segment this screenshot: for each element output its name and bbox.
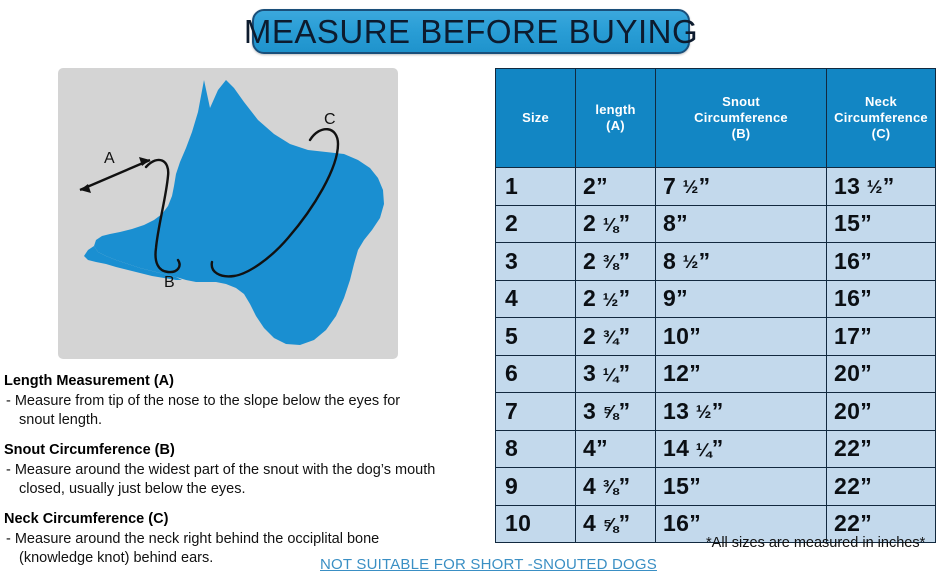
value-whole: 9 xyxy=(663,285,676,311)
cell-size: 1 xyxy=(496,168,576,206)
value-fraction: ½ xyxy=(596,289,619,310)
cell-snout-circumference: 10” xyxy=(656,318,827,356)
value-fraction: ¼ xyxy=(596,364,619,385)
unit-mark: ” xyxy=(619,248,631,274)
unit-mark: ” xyxy=(619,510,631,536)
value-whole: 2 xyxy=(583,323,596,349)
cell-snout-circumference: 9” xyxy=(656,280,827,318)
unit-mark: ” xyxy=(699,248,711,274)
value-whole: 10 xyxy=(663,323,689,349)
cell-length: 3 ⅝” xyxy=(576,393,656,431)
size-chart-table-wrapper: Size length (A) Snout Circumference (B) … xyxy=(495,68,935,543)
table-row: 42 ½”9”16” xyxy=(496,280,936,318)
header-sub2: (C) xyxy=(827,126,935,142)
unit-mark: ” xyxy=(860,285,872,311)
value-fraction: ⅛ xyxy=(596,214,619,235)
value-fraction: ¼ xyxy=(689,439,712,460)
cell-size: 3 xyxy=(496,243,576,281)
value-whole: 20 xyxy=(834,398,860,424)
table-row: 73 ⅝”13 ½”20” xyxy=(496,393,936,431)
cell-size: 5 xyxy=(496,318,576,356)
unit-mark: ” xyxy=(689,360,701,386)
unit-mark: ” xyxy=(676,210,688,236)
unit-mark: ” xyxy=(860,360,872,386)
cell-neck-circumference: 15” xyxy=(827,205,936,243)
cell-size: 7 xyxy=(496,393,576,431)
cell-snout-circumference: 7 ½” xyxy=(656,168,827,206)
value-fraction: ⅝ xyxy=(596,401,619,422)
cell-length: 2” xyxy=(576,168,656,206)
value-whole: 20 xyxy=(834,360,860,386)
column-header-length: length (A) xyxy=(576,69,656,168)
value-whole: 15 xyxy=(834,210,860,236)
table-header-row: Size length (A) Snout Circumference (B) … xyxy=(496,69,936,168)
header-sub: Circumference xyxy=(827,110,935,126)
table-row: 22 ⅛”8”15” xyxy=(496,205,936,243)
unit-mark: ” xyxy=(689,510,701,536)
cell-snout-circumference: 14 ¼” xyxy=(656,430,827,468)
column-header-snout-circumference: Snout Circumference (B) xyxy=(656,69,827,168)
size-chart-table: Size length (A) Snout Circumference (B) … xyxy=(495,68,936,543)
instruction-group-snout: Snout Circumference (B) - Measure around… xyxy=(4,441,484,499)
column-header-size: Size xyxy=(496,69,576,168)
cell-size: 9 xyxy=(496,468,576,506)
unit-mark: ” xyxy=(883,173,895,199)
unit-mark: ” xyxy=(596,173,608,199)
table-header: Size length (A) Snout Circumference (B) … xyxy=(496,69,936,168)
cell-neck-circumference: 17” xyxy=(827,318,936,356)
table-row: 63 ¼”12”20” xyxy=(496,355,936,393)
unit-mark: ” xyxy=(860,473,872,499)
unit-mark: ” xyxy=(596,435,608,461)
unit-mark: ” xyxy=(860,398,872,424)
instruction-heading-length: Length Measurement (A) xyxy=(4,372,484,390)
unit-mark: ” xyxy=(712,435,724,461)
value-whole: 16 xyxy=(834,285,860,311)
label-a: A xyxy=(104,150,115,167)
value-whole: 12 xyxy=(663,360,689,386)
cell-size: 10 xyxy=(496,505,576,543)
value-whole: 4 xyxy=(583,510,596,536)
header-sub2: (B) xyxy=(656,126,826,142)
table-row: 32 ⅜”8 ½”16” xyxy=(496,243,936,281)
column-header-neck-circumference: Neck Circumference (C) xyxy=(827,69,936,168)
unit-mark: ” xyxy=(712,398,724,424)
cell-snout-circumference: 13 ½” xyxy=(656,393,827,431)
instruction-line: closed, usually just below the eyes. xyxy=(6,480,484,499)
instruction-group-length: Length Measurement (A) - Measure from ti… xyxy=(4,372,484,430)
page-title: MEASURE BEFORE BUYING xyxy=(244,15,698,48)
instruction-body-length: - Measure from tip of the nose to the sl… xyxy=(4,392,484,430)
dog-measurement-illustration: A B C xyxy=(58,68,398,359)
instruction-line: - Measure around the widest part of the … xyxy=(6,462,435,478)
unit-mark: ” xyxy=(860,210,872,236)
label-c: C xyxy=(324,111,336,128)
value-whole: 3 xyxy=(583,360,596,386)
value-whole: 8 xyxy=(663,248,676,274)
cell-neck-circumference: 16” xyxy=(827,243,936,281)
dog-head-silhouette xyxy=(94,80,384,345)
unit-mark: ” xyxy=(619,210,631,236)
unit-mark: ” xyxy=(860,323,872,349)
cell-size: 6 xyxy=(496,355,576,393)
value-whole: 8 xyxy=(663,210,676,236)
cell-neck-circumference: 22” xyxy=(827,430,936,468)
instruction-heading-snout: Snout Circumference (B) xyxy=(4,441,484,459)
value-whole: 17 xyxy=(834,323,860,349)
measurement-line-a xyxy=(80,157,150,193)
cell-snout-circumference: 8” xyxy=(656,205,827,243)
cell-size: 8 xyxy=(496,430,576,468)
value-whole: 2 xyxy=(583,173,596,199)
value-fraction: ½ xyxy=(860,176,883,197)
table-row: 52 ¾”10”17” xyxy=(496,318,936,356)
label-b: B xyxy=(164,274,175,291)
header-main: length xyxy=(595,102,635,117)
cell-length: 4 ⅜” xyxy=(576,468,656,506)
value-whole: 4 xyxy=(583,435,596,461)
value-whole: 16 xyxy=(663,510,689,536)
table-row: 12”7 ½”13 ½” xyxy=(496,168,936,206)
header-main: Size xyxy=(522,110,549,125)
cell-neck-circumference: 20” xyxy=(827,355,936,393)
cell-length: 3 ¼” xyxy=(576,355,656,393)
cell-length: 4 ⅝” xyxy=(576,505,656,543)
value-whole: 2 xyxy=(583,285,596,311)
unit-mark: ” xyxy=(619,323,631,349)
table-footnote: *All sizes are measured in inches* xyxy=(706,535,925,551)
cell-snout-circumference: 8 ½” xyxy=(656,243,827,281)
cell-neck-circumference: 22” xyxy=(827,468,936,506)
value-fraction: ½ xyxy=(689,401,712,422)
instruction-line: - Measure from tip of the nose to the sl… xyxy=(6,393,400,409)
value-whole: 13 xyxy=(663,398,689,424)
unit-mark: ” xyxy=(860,248,872,274)
unit-mark: ” xyxy=(860,435,872,461)
value-whole: 16 xyxy=(834,248,860,274)
value-whole: 2 xyxy=(583,210,596,236)
cell-size: 2 xyxy=(496,205,576,243)
unit-mark: ” xyxy=(619,285,631,311)
value-fraction: ⅝ xyxy=(596,514,619,535)
value-whole: 22 xyxy=(834,473,860,499)
value-fraction: ½ xyxy=(676,251,699,272)
value-whole: 22 xyxy=(834,435,860,461)
cell-length: 2 ⅛” xyxy=(576,205,656,243)
measurement-instructions: Length Measurement (A) - Measure from ti… xyxy=(4,372,484,578)
cell-length: 2 ½” xyxy=(576,280,656,318)
cell-length: 2 ⅜” xyxy=(576,243,656,281)
value-fraction: ⅜ xyxy=(596,476,619,497)
value-whole: 14 xyxy=(663,435,689,461)
cell-neck-circumference: 20” xyxy=(827,393,936,431)
unit-mark: ” xyxy=(689,323,701,349)
instruction-heading-neck: Neck Circumference (C) xyxy=(4,510,484,528)
cell-length: 2 ¾” xyxy=(576,318,656,356)
instruction-body-snout: - Measure around the widest part of the … xyxy=(4,461,484,499)
instruction-line: - Measure around the neck right behind t… xyxy=(6,531,379,547)
value-whole: 7 xyxy=(663,173,676,199)
cell-neck-circumference: 16” xyxy=(827,280,936,318)
table-row: 84”14 ¼”22” xyxy=(496,430,936,468)
header-main: Snout xyxy=(656,94,826,110)
cell-snout-circumference: 15” xyxy=(656,468,827,506)
cell-neck-circumference: 13 ½” xyxy=(827,168,936,206)
not-suitable-warning: NOT SUITABLE FOR SHORT -SNOUTED DOGS xyxy=(320,556,657,573)
table-row: 94 ⅜”15”22” xyxy=(496,468,936,506)
value-whole: 3 xyxy=(583,398,596,424)
value-whole: 4 xyxy=(583,473,596,499)
value-whole: 15 xyxy=(663,473,689,499)
unit-mark: ” xyxy=(860,510,872,536)
value-fraction: ½ xyxy=(676,176,699,197)
cell-snout-circumference: 12” xyxy=(656,355,827,393)
value-fraction: ¾ xyxy=(596,326,619,347)
header-sub: Circumference xyxy=(656,110,826,126)
instruction-line: snout length. xyxy=(6,411,484,430)
cell-size: 4 xyxy=(496,280,576,318)
dog-head-diagram: A B C xyxy=(58,68,398,359)
value-whole: 13 xyxy=(834,173,860,199)
cell-length: 4” xyxy=(576,430,656,468)
value-fraction: ⅜ xyxy=(596,251,619,272)
value-whole: 2 xyxy=(583,248,596,274)
header-sub: (A) xyxy=(576,118,655,134)
unit-mark: ” xyxy=(619,398,631,424)
unit-mark: ” xyxy=(619,473,631,499)
unit-mark: ” xyxy=(699,173,711,199)
value-whole: 22 xyxy=(834,510,860,536)
unit-mark: ” xyxy=(689,473,701,499)
page-title-banner: MEASURE BEFORE BUYING xyxy=(252,9,690,54)
unit-mark: ” xyxy=(676,285,688,311)
header-main: Neck xyxy=(827,94,935,110)
table-body: 12”7 ½”13 ½”22 ⅛”8”15”32 ⅜”8 ½”16”42 ½”9… xyxy=(496,168,936,543)
unit-mark: ” xyxy=(619,360,631,386)
